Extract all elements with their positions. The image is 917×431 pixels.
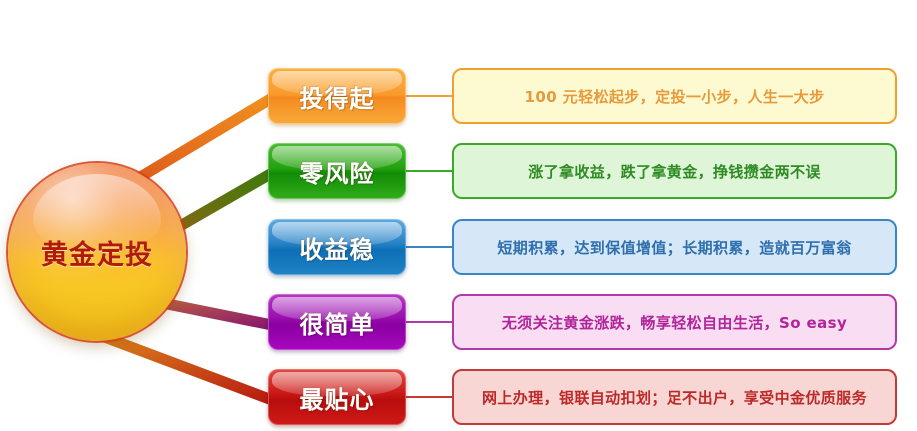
- tag-label-1: 零风险: [300, 154, 375, 189]
- tag-desc-link-0: [404, 95, 454, 97]
- tag-label-3: 很简单: [300, 305, 375, 340]
- description-box-4[interactable]: 网上办理，银联自动扣划；足不出户，享受中金优质服务: [452, 369, 897, 425]
- tag-box-1[interactable]: 零风险: [268, 143, 406, 199]
- tag-box-2[interactable]: 收益稳: [268, 219, 406, 275]
- tag-desc-link-3: [404, 321, 454, 323]
- diagram-canvas: 黄金定投 投得起 100 元轻松起步，定投一小步，人生一大步 零风险 涨了拿收益…: [0, 0, 917, 431]
- tag-box-0[interactable]: 投得起: [268, 68, 406, 124]
- description-text-3: 无须关注黄金涨跌，畅享轻松自由生活，So easy: [502, 312, 847, 333]
- branch-row-3: 很简单 无须关注黄金涨跌，畅享轻松自由生活，So easy: [0, 294, 917, 350]
- tag-label-4: 最贴心: [300, 380, 375, 415]
- tag-label-0: 投得起: [300, 79, 375, 114]
- tag-box-3[interactable]: 很简单: [268, 294, 406, 350]
- tag-box-4[interactable]: 最贴心: [268, 369, 406, 425]
- description-text-1: 涨了拿收益，跌了拿黄金，挣钱攒金两不误: [528, 161, 821, 182]
- description-box-1[interactable]: 涨了拿收益，跌了拿黄金，挣钱攒金两不误: [452, 143, 897, 199]
- branch-row-1: 零风险 涨了拿收益，跌了拿黄金，挣钱攒金两不误: [0, 143, 917, 199]
- description-text-0: 100 元轻松起步，定投一小步，人生一大步: [525, 86, 825, 107]
- description-text-2: 短期积累，达到保值增值；长期积累，造就百万富翁: [497, 237, 851, 258]
- description-box-2[interactable]: 短期积累，达到保值增值；长期积累，造就百万富翁: [452, 219, 897, 275]
- branch-row-2: 收益稳 短期积累，达到保值增值；长期积累，造就百万富翁: [0, 219, 917, 275]
- description-box-0[interactable]: 100 元轻松起步，定投一小步，人生一大步: [452, 68, 897, 124]
- tag-label-2: 收益稳: [300, 230, 375, 265]
- tag-desc-link-2: [404, 246, 454, 248]
- branch-row-0: 投得起 100 元轻松起步，定投一小步，人生一大步: [0, 68, 917, 124]
- description-box-3[interactable]: 无须关注黄金涨跌，畅享轻松自由生活，So easy: [452, 294, 897, 350]
- description-text-4: 网上办理，银联自动扣划；足不出户，享受中金优质服务: [482, 387, 867, 408]
- tag-desc-link-1: [404, 170, 454, 172]
- tag-desc-link-4: [404, 396, 454, 398]
- branch-row-4: 最贴心 网上办理，银联自动扣划；足不出户，享受中金优质服务: [0, 369, 917, 425]
